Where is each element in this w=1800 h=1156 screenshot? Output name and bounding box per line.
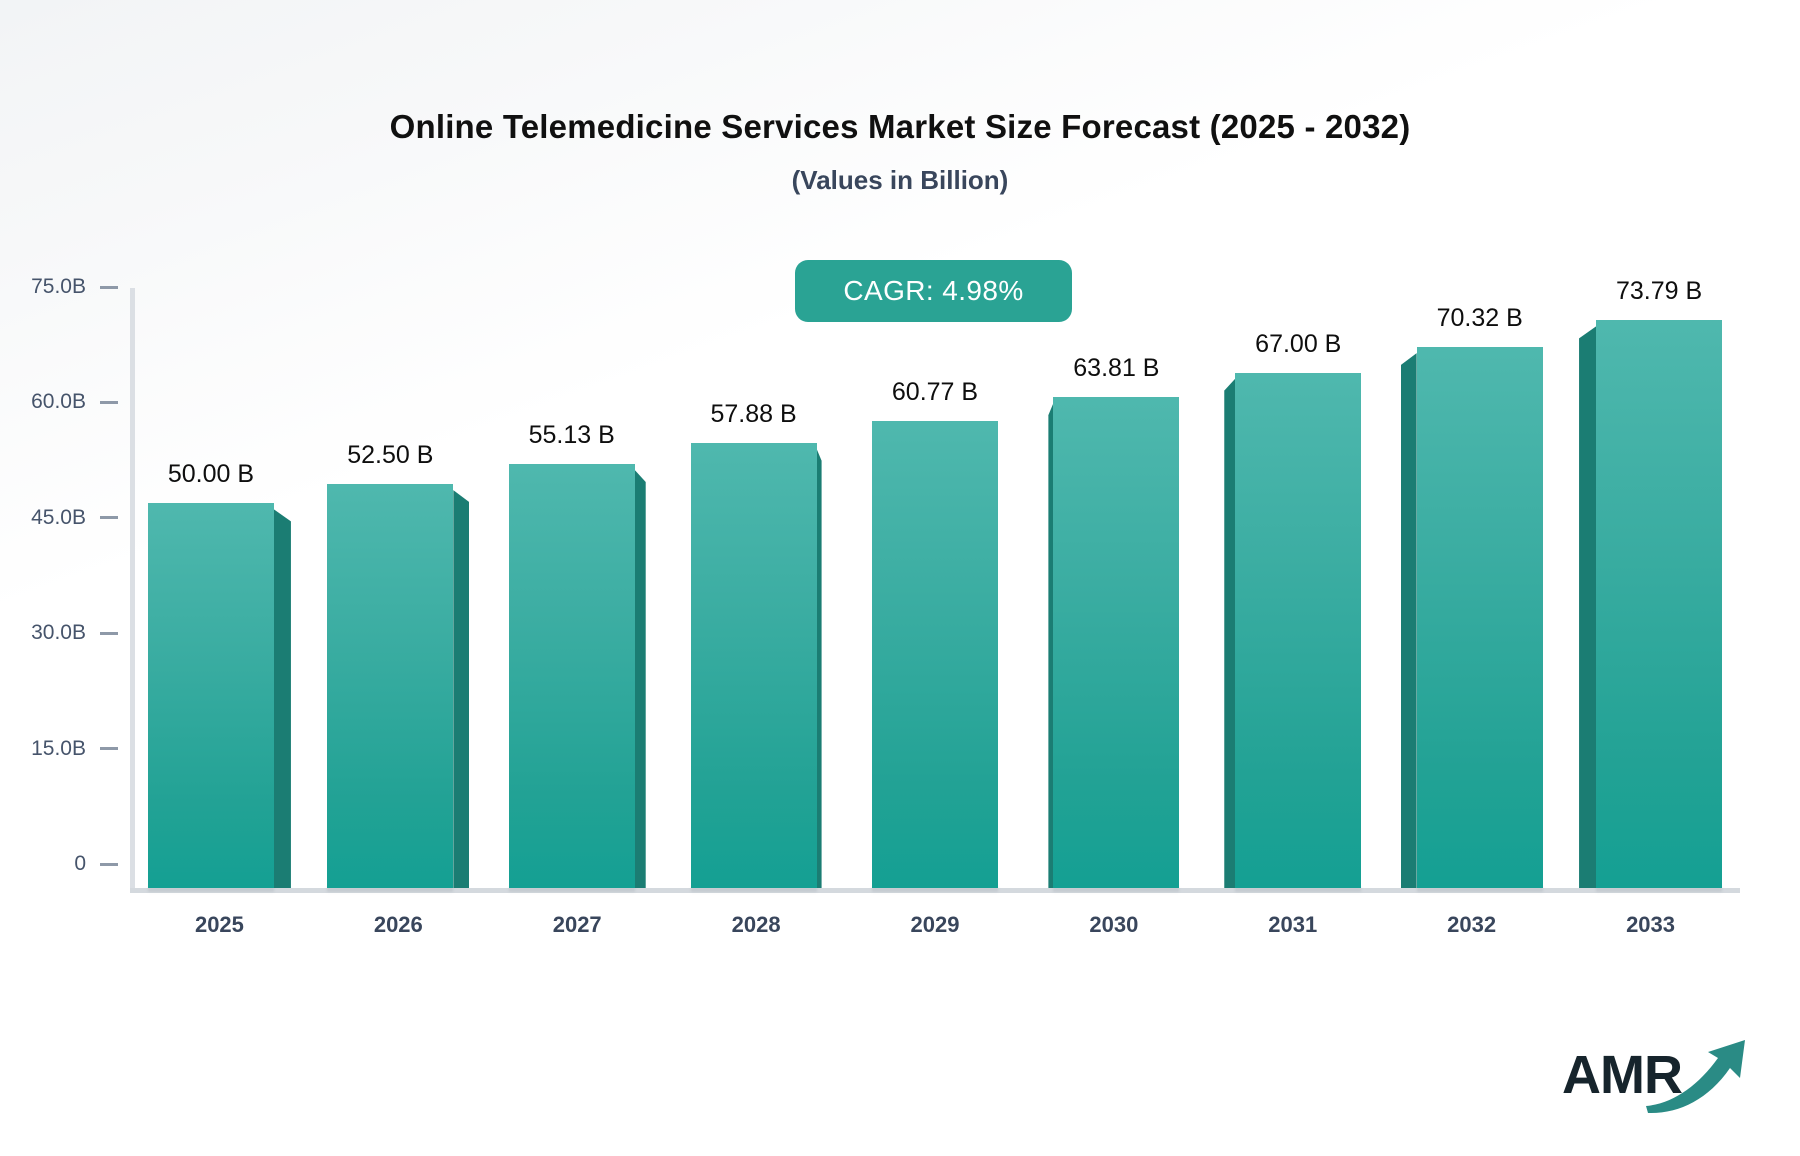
- y-axis-tick-mark: [100, 747, 118, 750]
- x-axis-label: 2031: [1203, 912, 1382, 938]
- bar-side-face: [274, 509, 291, 888]
- bar-value-label: 73.79 B: [1596, 277, 1722, 306]
- bar-front-face[interactable]: [148, 503, 274, 888]
- bar-front-face[interactable]: [691, 443, 817, 888]
- bar-side-face: [635, 470, 646, 888]
- x-axis-label: 2026: [309, 912, 488, 938]
- y-axis-tick-mark: [100, 516, 118, 519]
- bar-front-face[interactable]: [872, 421, 998, 888]
- bar-side-face: [1579, 326, 1596, 888]
- y-axis-tick-label: 30.0B: [31, 621, 86, 645]
- x-axis-label: 2029: [846, 912, 1025, 938]
- y-axis-tick-label: 0: [74, 852, 86, 876]
- y-axis-tick-label: 60.0B: [31, 390, 86, 414]
- x-axis-label: 2027: [488, 912, 667, 938]
- plot-area: 75.0B60.0B45.0B30.0B15.0B0 50.00 B52.50 …: [130, 288, 1740, 893]
- bar-group[interactable]: 57.88 B: [667, 288, 846, 888]
- bar-group[interactable]: 67.00 B: [1203, 288, 1382, 888]
- bar-side-face: [453, 490, 469, 888]
- bar-side-face: [1401, 353, 1417, 888]
- bar-value-label: 63.81 B: [1053, 354, 1179, 383]
- bar-value-label: 67.00 B: [1235, 330, 1361, 359]
- bar-slot: 60.77 B: [846, 288, 1025, 888]
- y-axis-tick: 60.0B: [0, 390, 130, 414]
- bar-value-label: 70.32 B: [1417, 304, 1543, 333]
- y-axis-tick-mark: [100, 286, 118, 289]
- title-block: Online Telemedicine Services Market Size…: [0, 108, 1800, 196]
- x-axis-label: 2032: [1382, 912, 1561, 938]
- y-axis-tick-label: 45.0B: [31, 506, 86, 530]
- amr-logo: AMR: [1562, 1034, 1752, 1118]
- chart-page: Online Telemedicine Services Market Size…: [0, 0, 1800, 1156]
- bar-value-label: 57.88 B: [691, 400, 817, 429]
- chart-subtitle: (Values in Billion): [0, 165, 1800, 196]
- bar-slot: 57.88 B: [667, 288, 846, 888]
- y-axis-tick: 75.0B: [0, 275, 130, 299]
- y-axis-tick-mark: [100, 632, 118, 635]
- bar-side-face: [1224, 379, 1235, 888]
- bar-slot: 55.13 B: [488, 288, 667, 888]
- bar-front-face[interactable]: [509, 464, 635, 888]
- bar-value-label: 55.13 B: [509, 421, 635, 450]
- y-axis-tick: 30.0B: [0, 621, 130, 645]
- bar-group[interactable]: 73.79 B: [1561, 288, 1740, 888]
- bar-slot: 70.32 B: [1382, 288, 1561, 888]
- y-axis-tick: 15.0B: [0, 737, 130, 761]
- bar-group[interactable]: 70.32 B: [1382, 288, 1561, 888]
- bar-slot: 52.50 B: [309, 288, 488, 888]
- bar-slot: 63.81 B: [1024, 288, 1203, 888]
- bar-front-face[interactable]: [327, 484, 453, 888]
- x-axis-label: 2030: [1024, 912, 1203, 938]
- bar-value-label: 60.77 B: [872, 378, 998, 407]
- bar-value-label: 52.50 B: [327, 441, 453, 470]
- y-axis-tick-label: 75.0B: [31, 275, 86, 299]
- bar-front-face[interactable]: [1596, 320, 1722, 888]
- bar-side-face: [817, 449, 822, 888]
- y-axis-tick-mark: [100, 401, 118, 404]
- bar-front-face[interactable]: [1235, 373, 1361, 888]
- y-axis-tick: 45.0B: [0, 506, 130, 530]
- x-axis-label: 2025: [130, 912, 309, 938]
- bar-group[interactable]: 63.81 B: [1024, 288, 1203, 888]
- y-axis-tick: 0: [0, 852, 130, 876]
- bar-front-face[interactable]: [1053, 397, 1179, 888]
- bar-group[interactable]: 52.50 B: [309, 288, 488, 888]
- bar-front-face[interactable]: [1417, 347, 1543, 888]
- bar-value-label: 50.00 B: [148, 460, 274, 489]
- bar-slot: 50.00 B: [130, 288, 309, 888]
- bar-group[interactable]: 60.77 B: [846, 288, 1025, 888]
- y-axis-tick-label: 15.0B: [31, 737, 86, 761]
- x-axis-label: 2033: [1561, 912, 1740, 938]
- x-axis-label: 2028: [667, 912, 846, 938]
- growth-arrow-icon: [1642, 1034, 1752, 1118]
- page-title: Online Telemedicine Services Market Size…: [0, 108, 1800, 146]
- bar-slot: 67.00 B: [1203, 288, 1382, 888]
- bar-group[interactable]: 55.13 B: [488, 288, 667, 888]
- bar-group[interactable]: 50.00 B: [130, 288, 309, 888]
- y-axis-tick-mark: [100, 863, 118, 866]
- bar-slot: 73.79 B: [1561, 288, 1740, 888]
